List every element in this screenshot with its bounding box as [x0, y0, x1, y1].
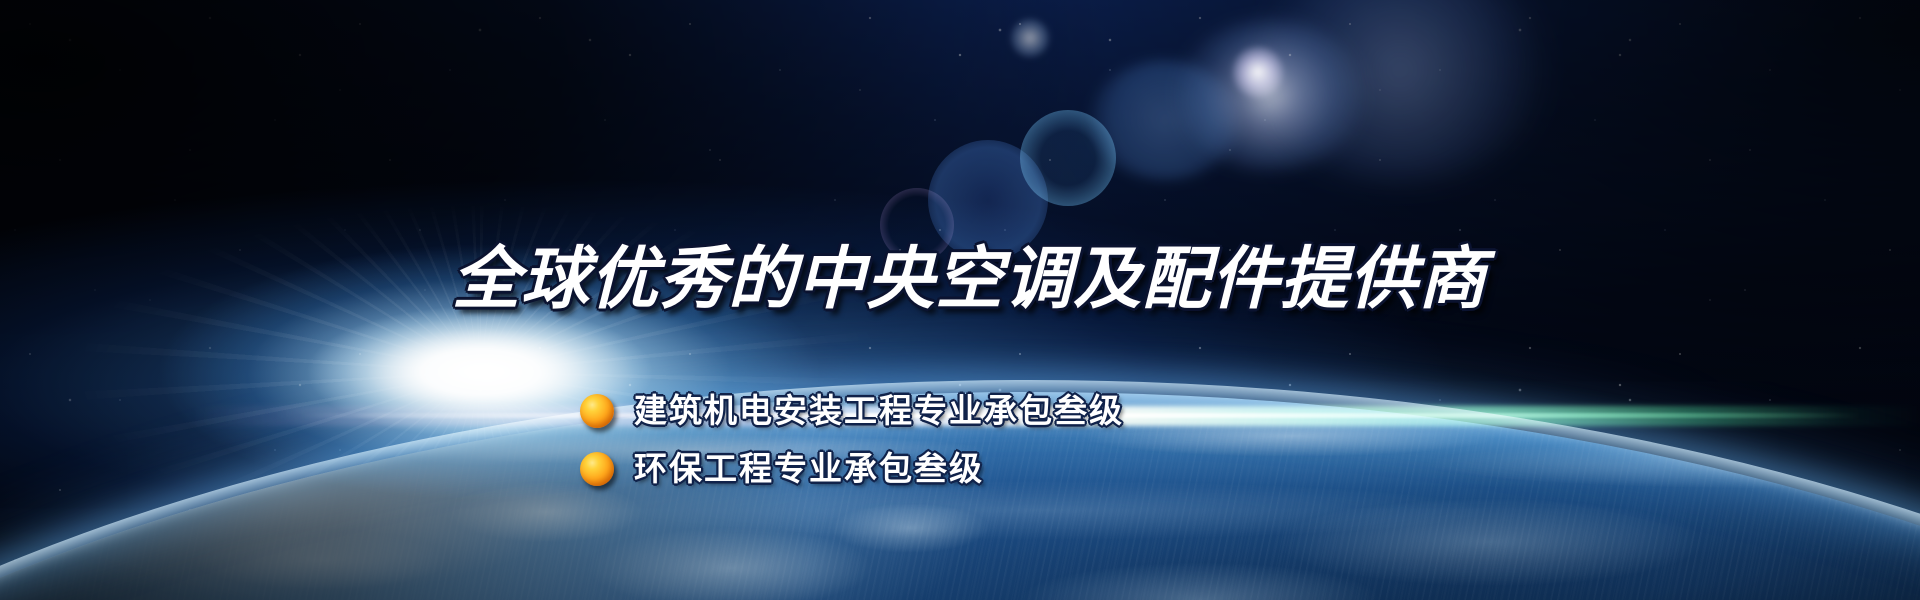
orange-sphere-bullet-icon: [580, 394, 614, 428]
qualification-list: 建筑机电安装工程专业承包叁级 环保工程专业承包叁级: [580, 382, 1124, 498]
qualification-item-1: 建筑机电安装工程专业承包叁级: [580, 382, 1124, 440]
qualification-item-2: 环保工程专业承包叁级: [580, 440, 1124, 498]
orange-sphere-bullet-icon: [580, 452, 614, 486]
hero-banner: 全球优秀的中央空调及配件提供商 建筑机电安装工程专业承包叁级 环保工程专业承包叁…: [0, 0, 1920, 600]
qualification-label-2: 环保工程专业承包叁级: [634, 449, 984, 489]
banner-content: 全球优秀的中央空调及配件提供商 建筑机电安装工程专业承包叁级 环保工程专业承包叁…: [0, 0, 1920, 600]
banner-headline: 全球优秀的中央空调及配件提供商: [452, 240, 1487, 318]
qualification-label-1: 建筑机电安装工程专业承包叁级: [634, 391, 1124, 431]
